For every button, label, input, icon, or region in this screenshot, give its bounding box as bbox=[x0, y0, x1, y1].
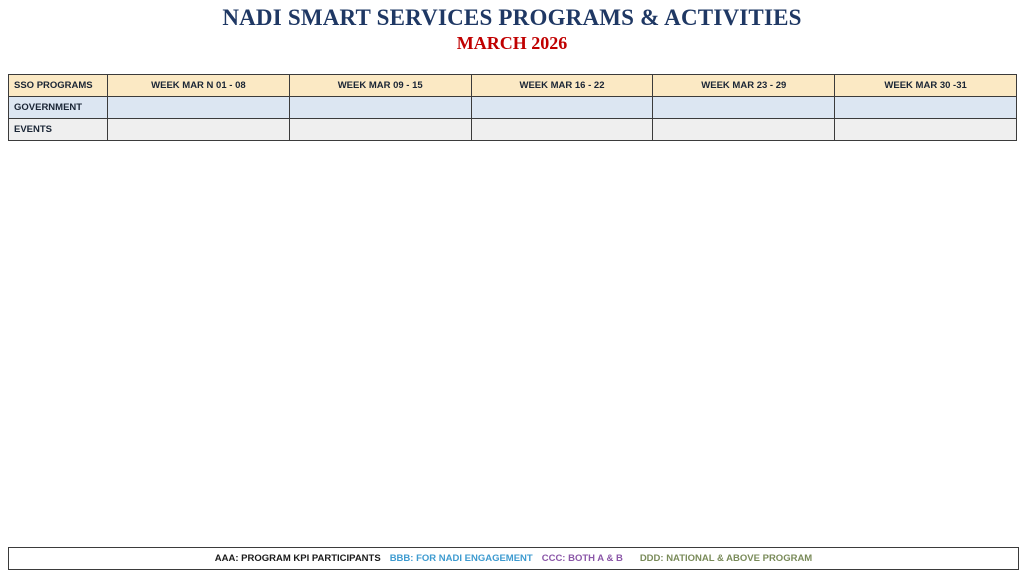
legend-footer: AAA: PROGRAM KPI PARTICIPANTS BBB: FOR N… bbox=[8, 547, 1019, 570]
page-subtitle-month: MARCH 2026 bbox=[0, 32, 1024, 54]
page-title: NADI SMART SERVICES PROGRAMS & ACTIVITIE… bbox=[0, 6, 1024, 30]
cell-events-week-5[interactable] bbox=[835, 119, 1017, 141]
legend-item-ddd: DDD: NATIONAL & ABOVE PROGRAM bbox=[640, 553, 812, 564]
cell-events-week-1[interactable] bbox=[108, 119, 290, 141]
column-header-sso-programs: SSO PROGRAMS bbox=[9, 75, 108, 97]
table-header-row: SSO PROGRAMS WEEK MAR N 01 - 08 WEEK MAR… bbox=[9, 75, 1017, 97]
cell-government-week-1[interactable] bbox=[108, 97, 290, 119]
cell-government-week-4[interactable] bbox=[653, 97, 835, 119]
page-header: NADI SMART SERVICES PROGRAMS & ACTIVITIE… bbox=[0, 0, 1024, 54]
cell-events-week-4[interactable] bbox=[653, 119, 835, 141]
schedule-table: SSO PROGRAMS WEEK MAR N 01 - 08 WEEK MAR… bbox=[8, 74, 1017, 141]
column-header-week-5: WEEK MAR 30 -31 bbox=[835, 75, 1017, 97]
cell-government-week-5[interactable] bbox=[835, 97, 1017, 119]
legend-item-ccc: CCC: BOTH A & B bbox=[542, 553, 623, 564]
legend-item-bbb: BBB: FOR NADI ENGAGEMENT bbox=[390, 553, 533, 564]
column-header-week-2: WEEK MAR 09 - 15 bbox=[289, 75, 471, 97]
table-row: EVENTS bbox=[9, 119, 1017, 141]
row-label-events: EVENTS bbox=[9, 119, 108, 141]
column-header-week-3: WEEK MAR 16 - 22 bbox=[471, 75, 653, 97]
cell-events-week-2[interactable] bbox=[289, 119, 471, 141]
legend-items: AAA: PROGRAM KPI PARTICIPANTS BBB: FOR N… bbox=[215, 553, 812, 564]
column-header-week-4: WEEK MAR 23 - 29 bbox=[653, 75, 835, 97]
column-header-week-1: WEEK MAR N 01 - 08 bbox=[108, 75, 290, 97]
cell-events-week-3[interactable] bbox=[471, 119, 653, 141]
legend-item-aaa: AAA: PROGRAM KPI PARTICIPANTS bbox=[215, 553, 381, 564]
cell-government-week-3[interactable] bbox=[471, 97, 653, 119]
cell-government-week-2[interactable] bbox=[289, 97, 471, 119]
row-label-government: GOVERNMENT bbox=[9, 97, 108, 119]
schedule-table-container: SSO PROGRAMS WEEK MAR N 01 - 08 WEEK MAR… bbox=[8, 74, 1017, 141]
table-row: GOVERNMENT bbox=[9, 97, 1017, 119]
